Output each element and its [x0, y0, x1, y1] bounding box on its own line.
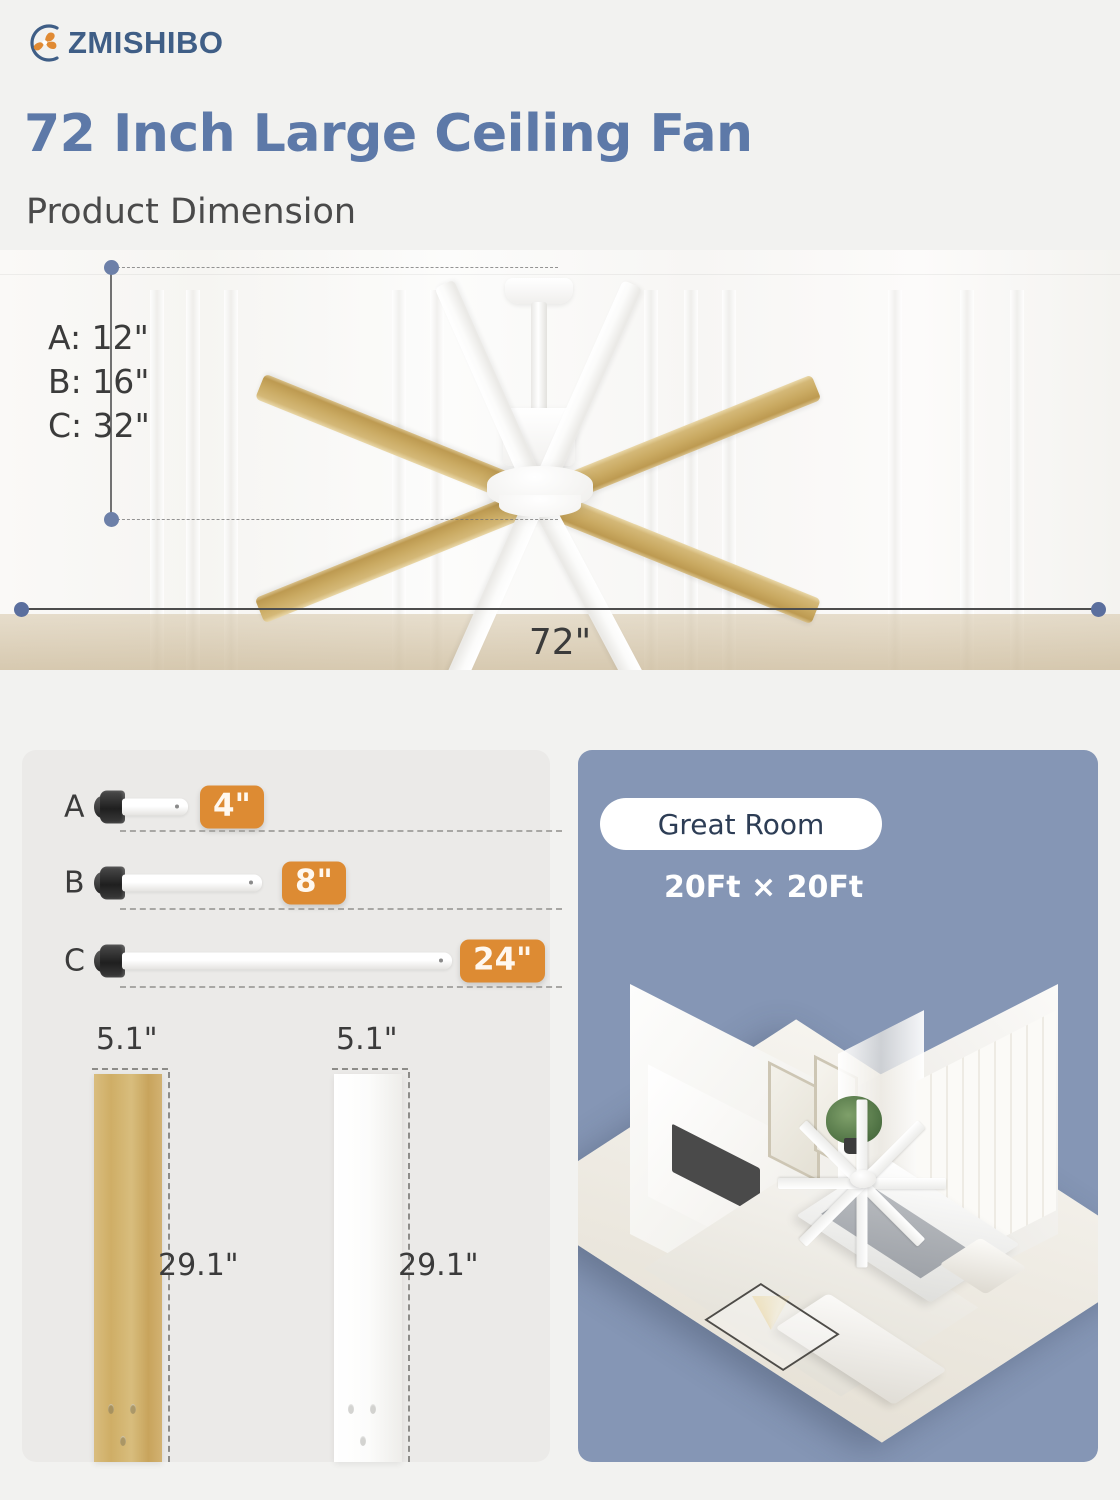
height-dimension-dot-top	[104, 260, 119, 275]
downrod-guide-c	[120, 986, 562, 988]
fan-canopy	[505, 278, 573, 304]
blade-length-label-wood: 29.1"	[158, 1248, 239, 1283]
height-label-b: B: 16"	[48, 360, 150, 404]
room-fan-blade	[857, 1184, 868, 1268]
blade-width-label-wood: 5.1"	[96, 1022, 158, 1057]
blade-width-label-white: 5.1"	[336, 1022, 398, 1057]
room-type-badge: Great Room	[600, 798, 882, 850]
fan-light-kit	[499, 495, 581, 517]
room-fan-blade	[858, 1180, 925, 1247]
height-dimension-labels: A: 12" B: 16" C: 32"	[48, 316, 150, 448]
specs-panel: A 4" B 8" C 24" 5.1" 29.1" 5.1"	[22, 750, 550, 1462]
height-dimension-dot-bottom	[104, 512, 119, 527]
room-ceiling-fan	[762, 1122, 962, 1242]
brand-name: ZMISHIBO	[68, 25, 224, 61]
width-dimension-dot-left	[14, 602, 29, 617]
width-dimension-line	[22, 608, 1098, 610]
height-dimension-top-guide	[112, 267, 558, 268]
width-dimension-label: 72"	[0, 622, 1120, 663]
downrod-letter-c: C	[64, 944, 85, 979]
downrod-row-a: A 4"	[22, 778, 550, 836]
blade-width-guide-white	[332, 1068, 408, 1070]
hero-product-image	[0, 250, 1120, 670]
downrod-tube	[122, 875, 262, 892]
height-label-a: A: 12"	[48, 316, 150, 360]
downrod-letter-a: A	[64, 790, 85, 825]
room-size-label: 20Ft × 20Ft	[664, 870, 863, 905]
blade-width-guide-wood	[92, 1068, 168, 1070]
room-type-label: Great Room	[658, 808, 825, 841]
room-recommendation-panel: Great Room 20Ft × 20Ft	[578, 750, 1098, 1462]
downrod-tube	[122, 953, 452, 970]
downrod-badge-c: 24"	[460, 940, 545, 983]
downrod-row-b: B 8"	[22, 854, 550, 912]
header: ZMISHIBO 72 Inch Large Ceiling Fan Produ…	[0, 0, 1120, 250]
ceiling-fan-illustration	[0, 250, 1120, 670]
downrod-letter-b: B	[64, 866, 85, 901]
height-dimension-bottom-guide	[112, 519, 558, 520]
downrod-badge-a: 4"	[200, 786, 264, 829]
page-title: 72 Inch Large Ceiling Fan	[24, 104, 753, 164]
page-subtitle: Product Dimension	[26, 192, 356, 232]
downrod-row-c: C 24"	[22, 932, 550, 990]
blade-length-label-white: 29.1"	[398, 1248, 479, 1283]
downrod-guide-a	[120, 830, 562, 832]
fan-propeller-icon	[24, 22, 66, 64]
height-label-c: C: 32"	[48, 404, 150, 448]
brand-logo: ZMISHIBO	[24, 22, 224, 64]
downrod-tube	[122, 799, 188, 816]
downrod-guide-b	[120, 908, 562, 910]
fan-blade-white-sample	[334, 1074, 402, 1462]
fan-downrod	[531, 302, 547, 412]
fan-blade-wood-sample	[94, 1074, 162, 1462]
isometric-room-illustration	[586, 946, 1090, 1446]
width-dimension-dot-right	[1091, 602, 1106, 617]
room-fan-hub	[850, 1170, 876, 1188]
downrod-badge-b: 8"	[282, 862, 346, 905]
